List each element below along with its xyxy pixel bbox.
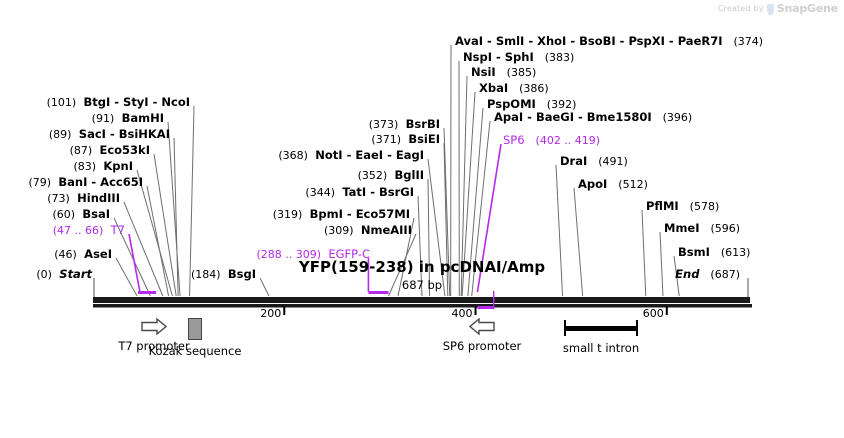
- enzyme-name: BsiEI: [408, 132, 440, 146]
- enzyme-name: XbaI: [479, 81, 508, 95]
- restriction-site-label: AvaI - SmlI - XhoI - BsoBI - PspXI - Pae…: [455, 35, 763, 48]
- restriction-site-label: (91) BamHI: [92, 112, 164, 125]
- cut-position: (371): [371, 133, 401, 146]
- enzyme-name: AvaI: [455, 34, 483, 48]
- legend-item-small-t-intron: small t intron: [535, 320, 667, 355]
- enzyme-name: BsrGI: [379, 185, 414, 199]
- restriction-site-label: (73) HindIII: [47, 192, 120, 205]
- enzyme-name: NcoI: [161, 95, 190, 109]
- enzyme-name: NspI: [463, 50, 492, 64]
- enzyme-name: DraI: [560, 154, 587, 168]
- cut-position: (596): [710, 222, 740, 235]
- cut-position: (385): [507, 66, 537, 79]
- cut-position: (368): [278, 149, 308, 162]
- enzyme-name: Eco53kI: [99, 143, 150, 157]
- arrow-left-outline-icon: [469, 320, 495, 339]
- cut-position: (386): [519, 82, 549, 95]
- restriction-site-label: (79) BanI - Acc65I: [28, 176, 143, 189]
- enzyme-name: BglII: [395, 168, 425, 182]
- enzyme-name: SphI: [505, 50, 534, 64]
- feature-label: SP6 (402 .. 419): [503, 134, 600, 147]
- enzyme-name: PspOMI: [487, 97, 536, 111]
- restriction-site-label: PflMI (578): [646, 200, 719, 213]
- enzyme-name: KpnI: [103, 159, 133, 173]
- enzyme-name: XhoI: [537, 34, 566, 48]
- intron-bar-icon: [564, 320, 638, 336]
- cut-position: (319): [273, 208, 303, 221]
- enzyme-name: HindIII: [77, 191, 120, 205]
- cut-position: (383): [545, 51, 575, 64]
- restriction-site-label: (344) TatI - BsrGI: [305, 186, 414, 199]
- cut-position: (47 .. 66): [53, 224, 104, 237]
- cut-position: (101): [47, 96, 77, 109]
- enzyme-name: BpmI: [310, 207, 343, 221]
- enzyme-name: EagI: [396, 148, 424, 162]
- enzyme-name: SacI: [79, 127, 106, 141]
- restriction-site-label: NsiI (385): [471, 66, 536, 79]
- cut-position: (373): [369, 118, 399, 131]
- legend-label: Kozak sequence: [107, 344, 283, 358]
- sequence-map-canvas: Created by SnapGene (101) BtgI - StyI - …: [0, 0, 844, 438]
- enzyme-name: Bme1580I: [587, 110, 652, 124]
- feature-label: (47 .. 66) T7: [53, 224, 125, 237]
- cut-position: (344): [305, 186, 335, 199]
- restriction-site-label: (368) NotI - EaeI - EagI: [278, 149, 424, 162]
- enzyme-name: BtgI: [83, 95, 110, 109]
- restriction-site-label: ApoI (512): [578, 178, 648, 191]
- enzyme-name: EaeI: [355, 148, 383, 162]
- enzyme-name: NsiI: [471, 65, 496, 79]
- page-subtitle: 687 bp: [0, 278, 844, 292]
- legend-label: SP6 promoter: [415, 339, 549, 353]
- cut-position: (352): [358, 169, 388, 182]
- restriction-site-label: (352) BglII: [358, 169, 424, 182]
- restriction-site-label: (309) NmeAIII: [324, 224, 412, 237]
- legend-label: small t intron: [535, 341, 667, 355]
- restriction-site-label: (371) BsiEI: [371, 133, 440, 146]
- cut-position: (79): [28, 176, 51, 189]
- page-title: YFP(159-238) in pcDNAI/Amp: [0, 258, 844, 276]
- restriction-site-label: MmeI (596): [664, 222, 740, 235]
- legend-item-sp6-promoter: SP6 promoter: [415, 318, 549, 353]
- legend-item-kozak-sequence: Kozak sequence: [107, 318, 283, 358]
- cut-position: (491): [598, 155, 628, 168]
- leader-lines-layer: [0, 0, 844, 438]
- enzyme-name: PaeR7I: [678, 34, 723, 48]
- enzyme-name: BsoBI: [579, 34, 616, 48]
- enzyme-name: Acc65I: [100, 175, 143, 189]
- cut-position: (578): [690, 200, 720, 213]
- enzyme-name: TatI: [342, 185, 366, 199]
- enzyme-name: StyI: [123, 95, 149, 109]
- enzyme-name: BsaI: [82, 207, 110, 221]
- cut-position: (309): [324, 224, 354, 237]
- restriction-site-label: XbaI (386): [479, 82, 549, 95]
- enzyme-name: BanI: [58, 175, 87, 189]
- enzyme-name: MmeI: [664, 221, 700, 235]
- restriction-site-label: (89) SacI - BsiHKAI: [49, 128, 170, 141]
- enzyme-name: ApaI: [494, 110, 523, 124]
- enzyme-name: NmeAIII: [361, 223, 412, 237]
- enzyme-name: BsrBI: [406, 117, 440, 131]
- restriction-site-label: (101) BtgI - StyI - NcoI: [47, 96, 190, 109]
- restriction-site-label: ApaI - BaeGI - Bme1580I (396): [494, 111, 692, 124]
- cut-position: (87): [70, 144, 93, 157]
- enzyme-name: BsiHKAI: [119, 127, 170, 141]
- ruler-tick-label: 600: [643, 307, 664, 320]
- enzyme-name: PspXI: [628, 34, 664, 48]
- restriction-site-label: DraI (491): [560, 155, 628, 168]
- restriction-site-label: NspI - SphI (383): [463, 51, 574, 64]
- restriction-site-label: (373) BsrBI: [369, 118, 440, 131]
- enzyme-name: SP6: [503, 133, 525, 147]
- cut-position: (374): [733, 35, 763, 48]
- cut-position: (60): [52, 208, 75, 221]
- restriction-site-label: (319) BpmI - Eco57MI: [273, 208, 410, 221]
- enzyme-name: BsmI: [678, 245, 710, 259]
- enzyme-name: BaeGI: [536, 110, 574, 124]
- cut-position: (396): [663, 111, 693, 124]
- filled-box-icon: [188, 318, 202, 340]
- cut-position: (402 .. 419): [536, 134, 601, 147]
- enzyme-name: SmlI: [496, 34, 525, 48]
- enzyme-name: PflMI: [646, 199, 679, 213]
- cut-position: (91): [92, 112, 115, 125]
- enzyme-name: T7: [111, 223, 125, 237]
- cut-position: (512): [618, 178, 648, 191]
- cut-position: (73): [47, 192, 70, 205]
- restriction-site-label: (87) Eco53kI: [70, 144, 150, 157]
- enzyme-name: NotI: [315, 148, 342, 162]
- cut-position: (83): [73, 160, 96, 173]
- enzyme-name: BamHI: [122, 111, 164, 125]
- enzyme-name: Eco57MI: [356, 207, 410, 221]
- restriction-site-label: (83) KpnI: [73, 160, 133, 173]
- enzyme-name: ApoI: [578, 177, 607, 191]
- cut-position: (89): [49, 128, 72, 141]
- restriction-site-label: (60) BsaI: [52, 208, 110, 221]
